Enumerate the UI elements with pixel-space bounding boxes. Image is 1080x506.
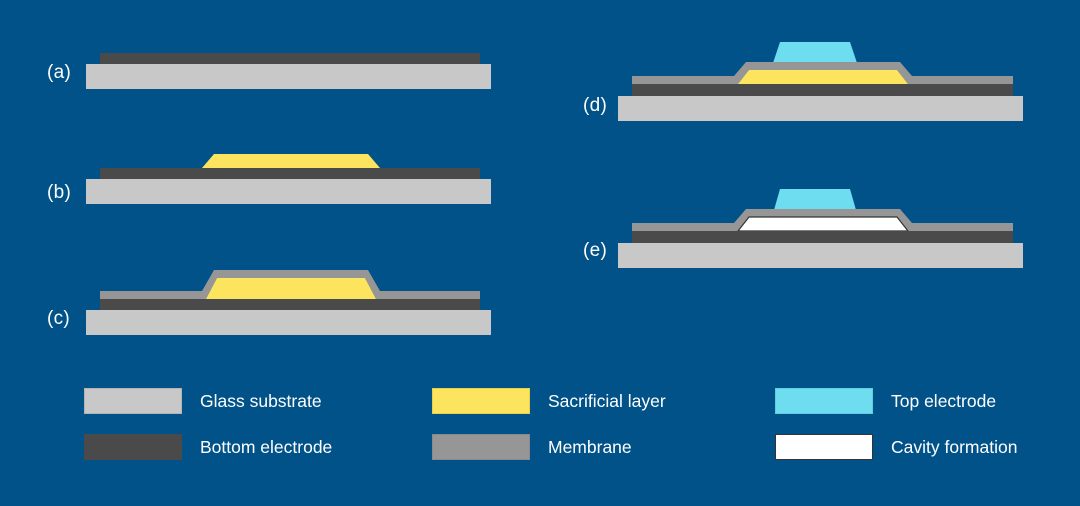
panel-b-stack (80, 140, 500, 210)
panel-label-d: (d) (583, 95, 607, 117)
sacrificial-layer-shape (738, 70, 908, 84)
legend-item-membrane: Membrane (432, 424, 666, 470)
legend-label-glass-substrate: Glass substrate (200, 391, 322, 412)
panel-label-e: (e) (583, 240, 607, 262)
bottom-electrode-layer (100, 53, 480, 64)
legend-swatch-top-electrode (775, 388, 873, 414)
process-flow-figure: (a) (b) (c) (d) (e) (0, 0, 1080, 506)
legend-label-bottom-electrode: Bottom electrode (200, 437, 332, 458)
legend-column-3: Top electrode Cavity formation (775, 378, 1017, 470)
legend-item-cavity-formation: Cavity formation (775, 424, 1017, 470)
bottom-electrode-layer (632, 231, 1013, 243)
panel-a-stack (80, 46, 500, 96)
bottom-electrode-layer (100, 299, 480, 310)
bottom-electrode-layer (632, 84, 1013, 96)
panel-e-stack (612, 180, 1032, 270)
legend-item-top-electrode: Top electrode (775, 378, 1017, 424)
legend-label-sacrificial-layer: Sacrificial layer (548, 391, 666, 412)
top-electrode-layer (774, 189, 856, 210)
legend-label-membrane: Membrane (548, 437, 632, 458)
glass-substrate-layer (618, 243, 1023, 268)
legend-swatch-membrane (432, 434, 530, 460)
legend-item-bottom-electrode: Bottom electrode (84, 424, 332, 470)
sacrificial-layer-shape-top (202, 154, 380, 168)
legend-column-1: Glass substrate Bottom electrode (84, 378, 332, 470)
legend-swatch-bottom-electrode (84, 434, 182, 460)
cavity-layer (738, 217, 908, 231)
panel-d-stack (612, 36, 1032, 126)
glass-substrate-layer (618, 96, 1023, 121)
legend: Glass substrate Bottom electrode Sacrifi… (0, 378, 1080, 478)
glass-substrate-layer (86, 310, 491, 335)
panel-label-c: (c) (47, 308, 70, 330)
legend-column-2: Sacrificial layer Membrane (432, 378, 666, 470)
legend-swatch-cavity-formation (775, 434, 873, 460)
legend-swatch-glass-substrate (84, 388, 182, 414)
legend-item-sacrificial-layer: Sacrificial layer (432, 378, 666, 424)
legend-label-top-electrode: Top electrode (891, 391, 996, 412)
glass-substrate-layer (86, 179, 491, 204)
panel-label-b: (b) (47, 182, 71, 204)
sacrificial-layer-shape (206, 278, 376, 299)
panel-c-stack (80, 258, 500, 338)
legend-swatch-sacrificial-layer (432, 388, 530, 414)
bottom-electrode-layer (100, 168, 480, 179)
glass-substrate-layer (86, 64, 491, 89)
legend-item-glass-substrate: Glass substrate (84, 378, 332, 424)
panel-label-a: (a) (47, 62, 71, 84)
legend-label-cavity-formation: Cavity formation (891, 437, 1017, 458)
top-electrode-layer (773, 42, 857, 63)
